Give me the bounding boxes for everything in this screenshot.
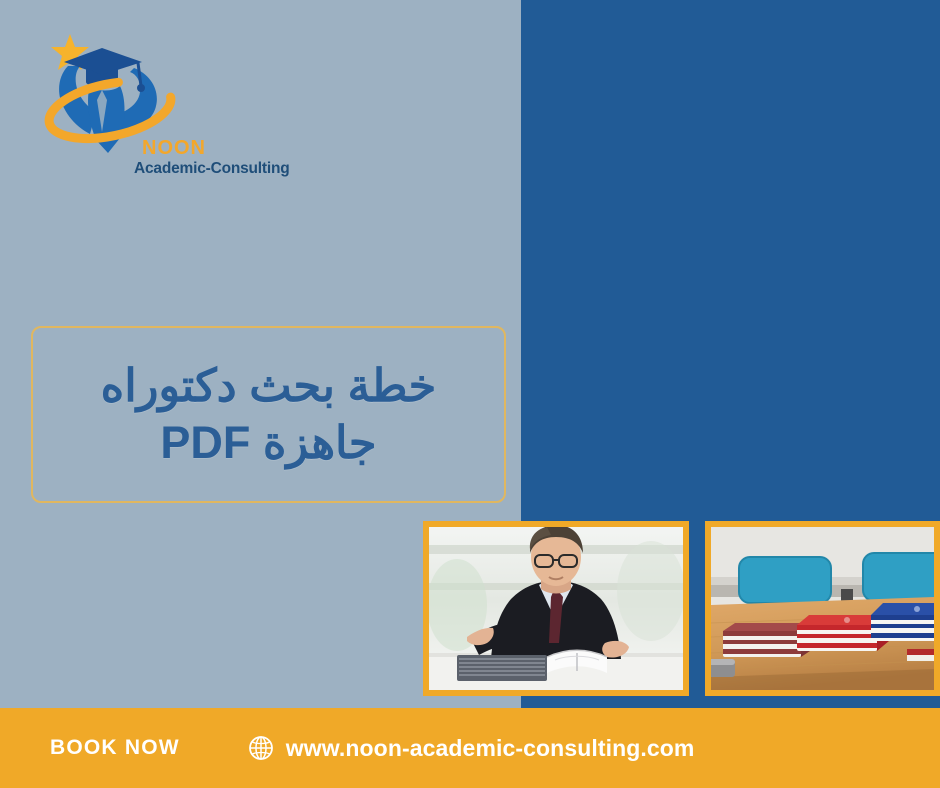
headline-line-2: جاهزة PDF [160,415,376,471]
headline-line-1: خطة بحث دكتوراه [101,358,437,414]
website-url-text: www.noon-academic-consulting.com [286,735,695,762]
website-link[interactable]: www.noon-academic-consulting.com [248,735,695,762]
headline-box: خطة بحث دكتوراه جاهزة PDF [31,326,506,503]
brand-name: NOON [142,138,314,158]
photo-bound-theses [705,521,940,696]
brand-tagline: Academic-Consulting [134,160,314,177]
photo-man-reading [423,521,689,696]
footer-bar: BOOK NOW www.noon-academic-consulting.co… [0,708,940,788]
book-now-button[interactable]: BOOK NOW [50,736,180,760]
brand-logo[interactable]: NOON Academic-Consulting [38,28,283,168]
promo-poster: NOON Academic-Consulting خطة بحث دكتوراه… [0,0,940,788]
brand-logo-text: NOON Academic-Consulting [134,138,314,177]
graduate-figure-star-swoosh-icon [38,28,188,153]
globe-icon [248,735,274,761]
